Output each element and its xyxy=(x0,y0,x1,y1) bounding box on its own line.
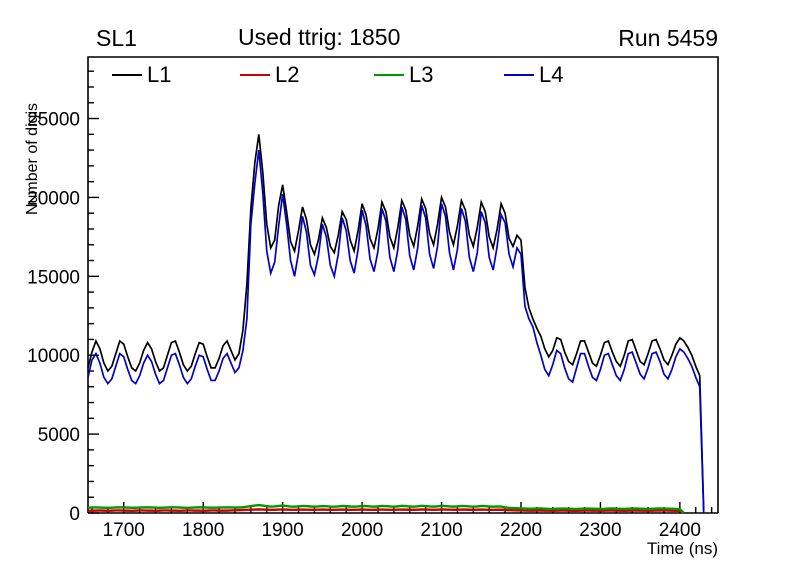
series-line-l1[interactable] xyxy=(88,134,704,510)
x-tick-label: 2200 xyxy=(500,520,542,541)
x-tick-label: 2300 xyxy=(579,520,621,541)
y-tick-label: 10000 xyxy=(27,346,80,367)
y-tick-label: 0 xyxy=(69,504,80,525)
y-tick-label: 25000 xyxy=(27,110,80,131)
y-tick-label: 15000 xyxy=(27,267,80,288)
plot-area: 0500010000150002000025000170018001900200… xyxy=(0,0,796,572)
y-tick-label: 20000 xyxy=(27,188,80,209)
x-tick-label: 1800 xyxy=(182,520,224,541)
x-tick-label: 2100 xyxy=(420,520,462,541)
x-tick-label: 1700 xyxy=(103,520,145,541)
y-tick-label: 5000 xyxy=(38,425,80,446)
chart-svg: 0500010000150002000025000170018001900200… xyxy=(0,0,796,572)
series-line-l4[interactable] xyxy=(88,150,704,513)
x-tick-label: 1900 xyxy=(261,520,303,541)
x-tick-label: 2400 xyxy=(659,520,701,541)
x-tick-label: 2000 xyxy=(341,520,383,541)
plot-frame xyxy=(88,57,718,513)
plot-canvas: SL1 Used ttrig: 1850 Run 5459 L1L2L3L4 N… xyxy=(0,0,796,572)
